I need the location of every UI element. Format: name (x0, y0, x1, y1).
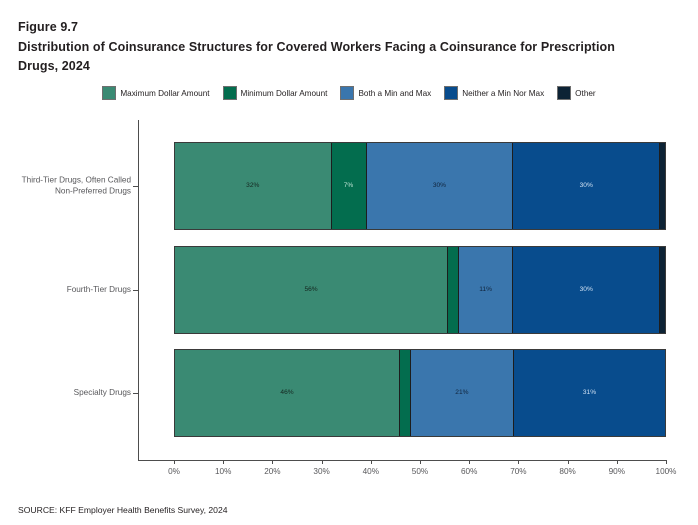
x-axis-tick (371, 460, 372, 464)
y-axis-tick (133, 393, 138, 394)
bar-segment-value-label: 21% (455, 389, 468, 397)
x-axis-tick-label: 50% (412, 467, 428, 477)
legend-swatch-icon (444, 86, 458, 100)
legend-item[interactable]: Neither a Min Nor Max (444, 86, 544, 100)
bar-segment-value-label: 56% (304, 286, 317, 294)
y-axis-category-label: Specialty Drugs (6, 388, 131, 399)
legend-item-label: Maximum Dollar Amount (120, 88, 209, 99)
y-axis-category-line: Specialty Drugs (6, 388, 131, 399)
source-note: SOURCE: KFF Employer Health Benefits Sur… (18, 505, 228, 515)
stacked-bar: 32%7%30%30% (174, 142, 666, 230)
x-axis-tick-label: 100% (656, 467, 677, 477)
bar-segment: 30% (513, 143, 660, 229)
figure-header: Figure 9.7 Distribution of Coinsurance S… (18, 18, 678, 76)
y-axis-category-label: Fourth-Tier Drugs (6, 285, 131, 296)
stacked-bar: 56%11%30% (174, 246, 666, 334)
legend-item[interactable]: Minimum Dollar Amount (223, 86, 328, 100)
bar-segment-value-label: 46% (280, 389, 293, 397)
bar-segment: 21% (411, 350, 514, 436)
bar-segment-value-label: 7% (344, 182, 354, 190)
bar-segment: 11% (459, 247, 513, 333)
bar-segment-value-label: 31% (583, 389, 596, 397)
x-axis-tick (174, 460, 175, 464)
bar-segment: 31% (514, 350, 665, 436)
x-axis-tick (469, 460, 470, 464)
legend-swatch-icon (340, 86, 354, 100)
bar-segment: 32% (175, 143, 332, 229)
y-axis-tick (133, 290, 138, 291)
chart-plot-area: 32%7%30%30%56%11%30%46%21%31% Third-Tier… (138, 120, 666, 460)
bar-segment: 56% (175, 247, 448, 333)
x-axis-tick-label: 30% (313, 467, 329, 477)
legend-item[interactable]: Maximum Dollar Amount (102, 86, 209, 100)
bar-segment-value-label: 30% (580, 286, 593, 294)
y-axis-tick (133, 186, 138, 187)
x-axis-tick-label: 80% (559, 467, 575, 477)
x-axis-tick (322, 460, 323, 464)
bar-segment (400, 350, 411, 436)
figure-number: Figure 9.7 (18, 18, 678, 37)
legend-item[interactable]: Both a Min and Max (340, 86, 431, 100)
x-axis-tick-label: 10% (215, 467, 231, 477)
x-axis-tick (617, 460, 618, 464)
x-axis-tick-label: 40% (363, 467, 379, 477)
x-axis-line (138, 460, 666, 461)
y-axis-line (138, 120, 139, 460)
x-axis-tick-label: 90% (609, 467, 625, 477)
x-axis-tick-label: 60% (461, 467, 477, 477)
legend-swatch-icon (102, 86, 116, 100)
figure-title: Distribution of Coinsurance Structures f… (18, 38, 628, 76)
bar-segment-value-label: 11% (479, 286, 492, 294)
x-axis-tick (666, 460, 667, 464)
x-axis-tick (568, 460, 569, 464)
y-axis-category-line: Non-Preferred Drugs (6, 186, 131, 197)
bar-segment (660, 143, 665, 229)
legend-item-label: Other (575, 88, 595, 99)
x-axis-tick (272, 460, 273, 464)
x-axis-tick (420, 460, 421, 464)
bar-segment (660, 247, 665, 333)
legend-swatch-icon (557, 86, 571, 100)
chart-legend: Maximum Dollar AmountMinimum Dollar Amou… (0, 86, 698, 100)
bar-segment: 30% (513, 247, 660, 333)
stacked-bar: 46%21%31% (174, 349, 666, 437)
legend-item-label: Minimum Dollar Amount (241, 88, 328, 99)
bar-segment-value-label: 30% (433, 182, 446, 190)
bar-segment: 46% (175, 350, 400, 436)
bar-segment-value-label: 32% (246, 182, 259, 190)
bar-segment-value-label: 30% (580, 182, 593, 190)
y-axis-category-line: Fourth-Tier Drugs (6, 285, 131, 296)
y-axis-category-line: Third-Tier Drugs, Often Called (6, 176, 131, 187)
x-axis-tick (223, 460, 224, 464)
legend-item-label: Neither a Min Nor Max (462, 88, 544, 99)
bar-segment (448, 247, 459, 333)
legend-item-label: Both a Min and Max (358, 88, 431, 99)
legend-swatch-icon (223, 86, 237, 100)
x-axis-tick-label: 20% (264, 467, 280, 477)
x-axis-tick-label: 70% (510, 467, 526, 477)
bar-segment: 30% (367, 143, 514, 229)
bar-segment: 7% (332, 143, 367, 229)
legend-item[interactable]: Other (557, 86, 595, 100)
y-axis-category-label: Third-Tier Drugs, Often CalledNon-Prefer… (6, 176, 131, 197)
x-axis-tick-label: 0% (168, 467, 180, 477)
x-axis-tick (518, 460, 519, 464)
